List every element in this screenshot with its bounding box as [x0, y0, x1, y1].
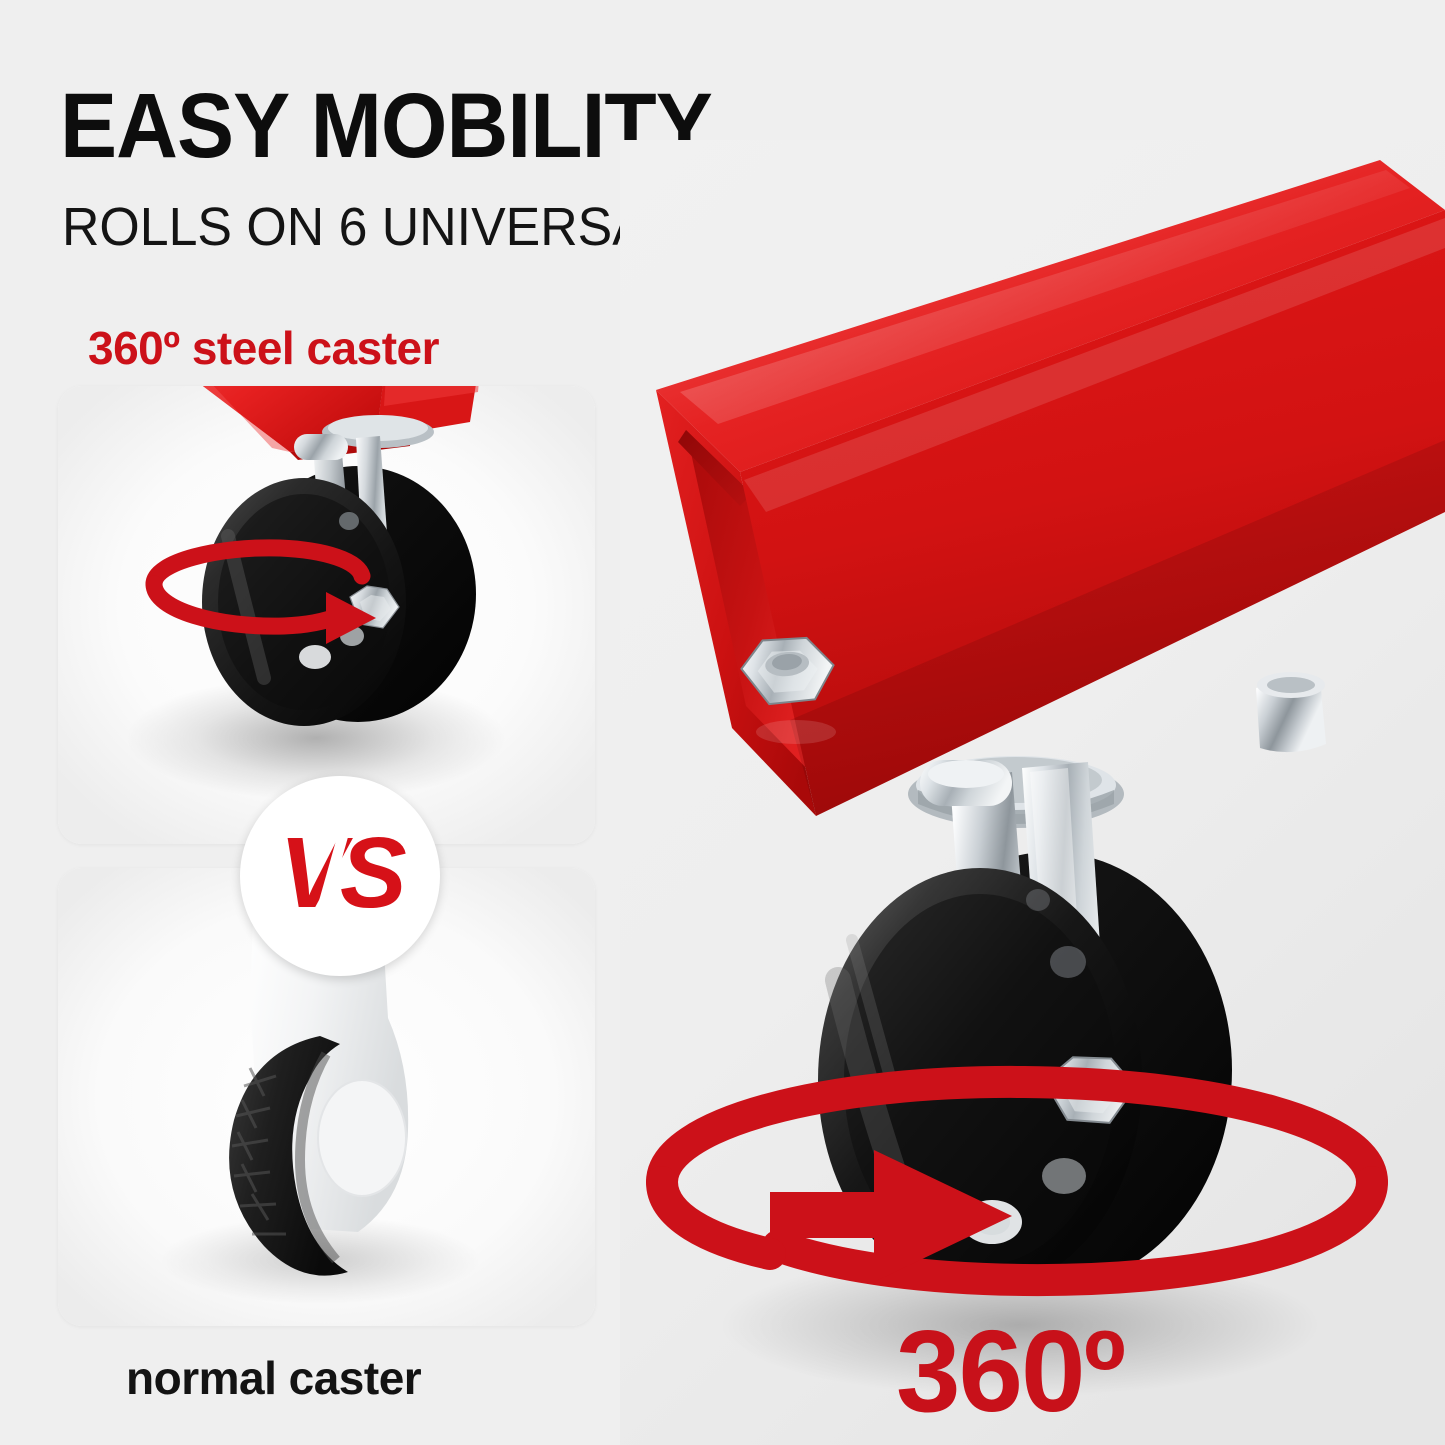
steel-caster-label: 360º steel caster [88, 322, 439, 374]
page-title: EASY MOBILITY [60, 78, 712, 174]
normal-caster-label: normal caster [126, 1352, 421, 1404]
product-feature-graphic: EASY MOBILITY ROLLS ON 6 UNIVERSAL STEEL… [0, 0, 1445, 1445]
vs-badge: VS [240, 776, 440, 976]
hero-product-image [620, 140, 1445, 1445]
hub-hole [1050, 946, 1086, 978]
hub-hole [1042, 1158, 1086, 1194]
bolt-head-icon [1256, 672, 1326, 752]
hero-illustration [620, 140, 1445, 1445]
rotation-degree-label: 360º [896, 1312, 1124, 1430]
vs-label: VS [240, 776, 440, 976]
